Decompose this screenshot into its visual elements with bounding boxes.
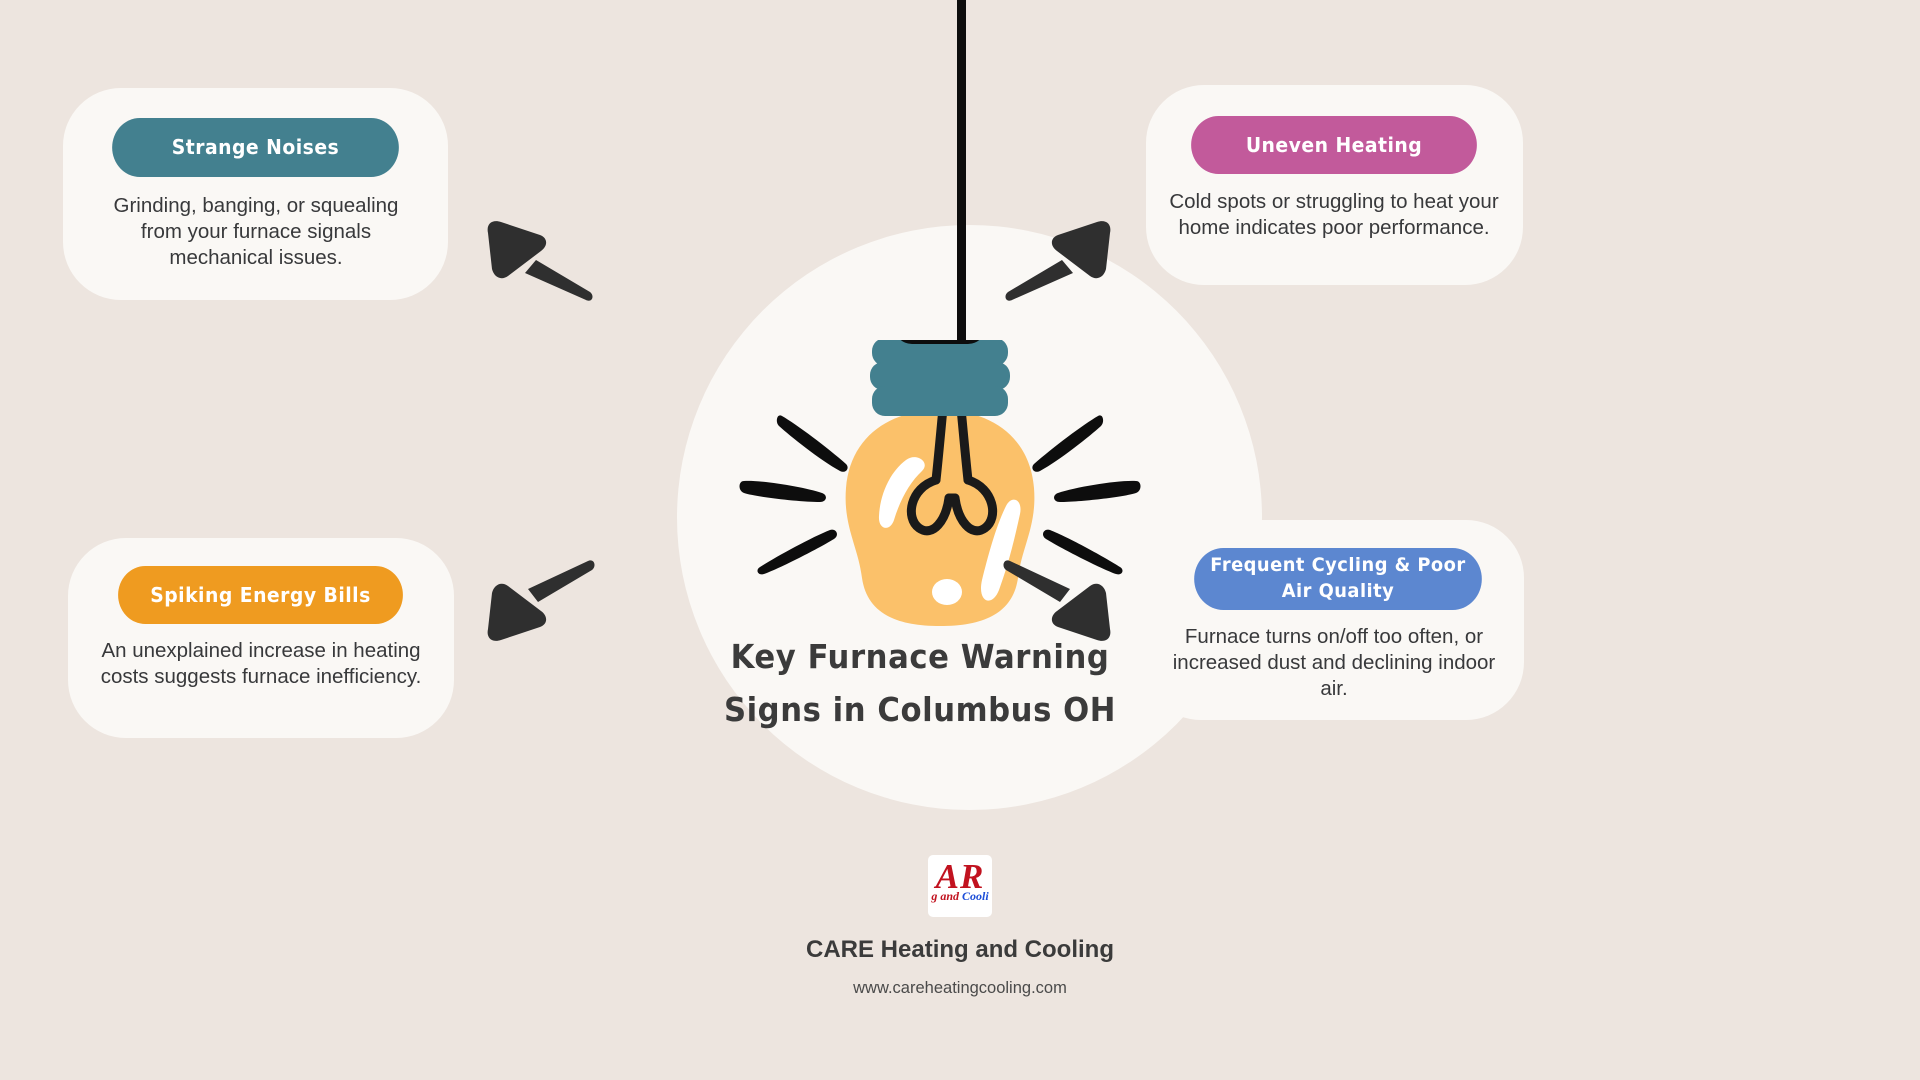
card-heading-frequent-cycling: Frequent Cycling & Poor Air Quality — [1194, 548, 1482, 610]
card-strange-noises[interactable]: Strange Noises Grinding, banging, or squ… — [63, 88, 448, 300]
infographic-canvas: Key Furnace Warning Signs in Columbus OH — [0, 0, 1920, 1080]
logo-subtitle: g and Cooli — [928, 889, 992, 904]
website-url[interactable]: www.careheatingcooling.com — [0, 979, 1920, 998]
logo-subtitle-blue: Cooli — [962, 889, 989, 903]
brand-name: CARE Heating and Cooling — [0, 936, 1920, 964]
arrow-top-left — [478, 218, 598, 313]
arrow-top-right — [1000, 218, 1120, 313]
bulb-cord — [957, 0, 966, 370]
arrow-bottom-left — [478, 555, 598, 650]
card-body-uneven-heating: Cold spots or struggling to heat your ho… — [1160, 189, 1508, 241]
footer: AR g and Cooli CARE Heating and Cooling … — [0, 855, 1920, 998]
logo-subtitle-red: g and — [931, 889, 962, 903]
card-heading-spiking-energy-bills: Spiking Energy Bills — [118, 566, 403, 624]
card-body-strange-noises: Grinding, banging, or squealing from you… — [91, 193, 421, 271]
card-heading-strange-noises: Strange Noises — [112, 118, 399, 177]
card-spiking-energy-bills[interactable]: Spiking Energy Bills An unexplained incr… — [68, 538, 454, 738]
card-body-spiking-energy-bills: An unexplained increase in heating costs… — [86, 638, 436, 690]
page-title-line-2: Signs in Columbus OH — [715, 683, 1124, 736]
arrow-bottom-right — [1000, 555, 1120, 650]
card-uneven-heating[interactable]: Uneven Heating Cold spots or struggling … — [1146, 85, 1523, 285]
card-frequent-cycling[interactable]: Frequent Cycling & Poor Air Quality Furn… — [1143, 520, 1524, 720]
care-logo: AR g and Cooli — [928, 855, 992, 917]
card-heading-uneven-heating: Uneven Heating — [1191, 116, 1477, 174]
card-body-frequent-cycling: Furnace turns on/off too often, or incre… — [1159, 624, 1509, 702]
